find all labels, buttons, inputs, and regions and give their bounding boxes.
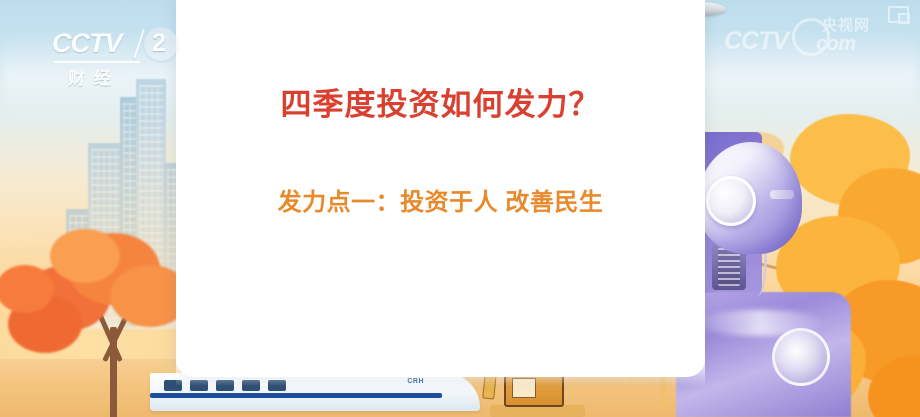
card-subtitle: 发力点一：投资于人 改善民生 xyxy=(176,189,705,218)
robot-antenna xyxy=(770,190,794,199)
watermark-tld: com xyxy=(816,33,856,56)
robot-wheel xyxy=(772,328,830,386)
train-window xyxy=(242,380,260,391)
watermark-brand: CCTV xyxy=(724,27,788,56)
watermark-brand-cn: 央视网 xyxy=(822,14,870,35)
logo-underline xyxy=(54,61,140,63)
network-wordmark: CCTV xyxy=(52,28,122,59)
robot-visor-icon xyxy=(706,176,756,226)
autumn-tree xyxy=(0,213,200,417)
tree-foliage xyxy=(50,229,120,283)
cctv2-channel-logo: CCTV 2 财经 xyxy=(52,28,184,86)
train-label: CRH xyxy=(407,378,424,385)
broadcast-frame: CRH xyxy=(0,0,920,417)
pip-inner-frame xyxy=(898,13,910,24)
excavator-window xyxy=(512,378,536,398)
page-title: 四季度投资如何发力？ xyxy=(176,86,705,123)
logo-slash xyxy=(133,29,144,58)
train-window xyxy=(216,380,234,391)
content-card: 四季度投资如何发力？ 发力点一：投资于人 改善民生 xyxy=(176,0,705,377)
train-window xyxy=(268,380,286,391)
channel-name-cn: 财经 xyxy=(68,64,120,89)
channel-number: 2 xyxy=(152,29,166,58)
picture-in-picture-icon[interactable] xyxy=(888,6,910,24)
cctv-com-watermark: CCTV com 央视网 xyxy=(724,14,892,58)
